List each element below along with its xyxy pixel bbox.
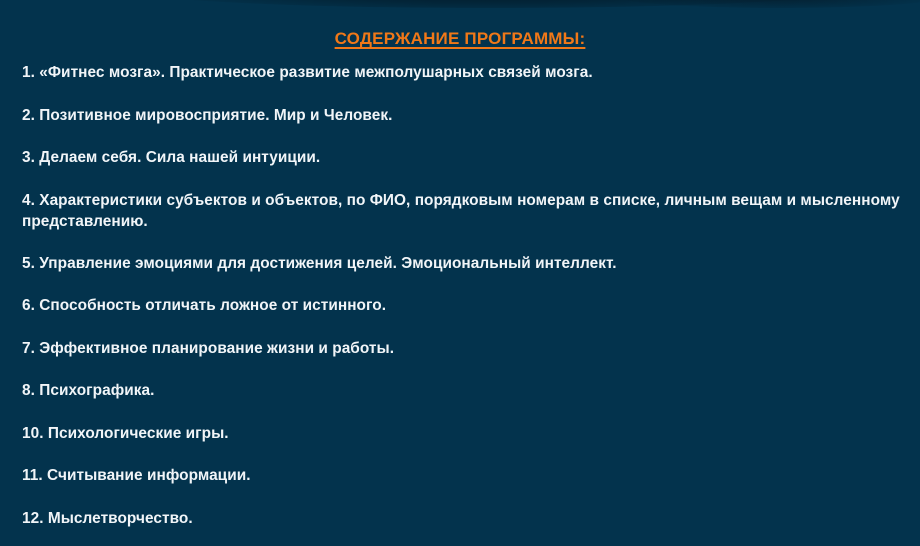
program-contents-list: 1. «Фитнес мозга». Практическое развитие…	[22, 62, 910, 546]
list-item: 12. Мыслетворчество.	[22, 508, 910, 529]
list-item: 4. Характеристики субъектов и объектов, …	[22, 190, 910, 232]
list-item: 2. Позитивное мировосприятие. Мир и Чело…	[22, 105, 910, 126]
list-item: 3. Делаем себя. Сила нашей интуиции.	[22, 147, 910, 168]
top-edge-shadow-decoration-secondary	[620, 0, 920, 8]
slide-canvas: СОДЕРЖАНИЕ ПРОГРАММЫ: 1. «Фитнес мозга».…	[0, 0, 920, 546]
list-item: 6. Способность отличать ложное от истинн…	[22, 295, 910, 316]
list-item: 11. Считывание информации.	[22, 465, 910, 486]
list-item: 7. Эффективное планирование жизни и рабо…	[22, 338, 910, 359]
list-item: 8. Психографика.	[22, 380, 910, 401]
top-edge-shadow-decoration	[140, 0, 840, 8]
list-item: 10. Психологические игры.	[22, 423, 910, 444]
list-item: 1. «Фитнес мозга». Практическое развитие…	[22, 62, 910, 83]
page-title: СОДЕРЖАНИЕ ПРОГРАММЫ:	[0, 29, 920, 49]
list-item: 5. Управление эмоциями для достижения це…	[22, 253, 910, 274]
